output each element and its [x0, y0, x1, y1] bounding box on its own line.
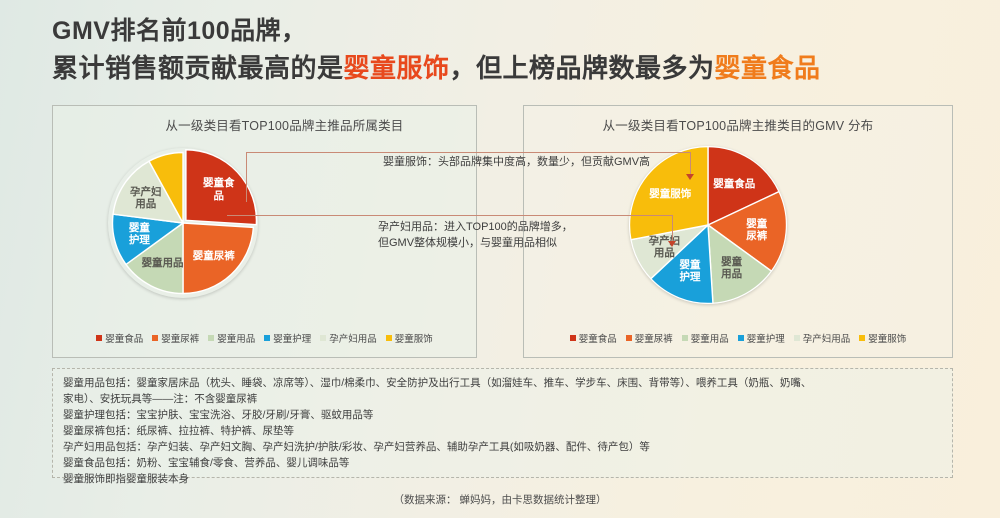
pie-slice-婴童尿裤 — [183, 223, 253, 294]
annotation-maternity: 孕产妇用品：进入TOP100的品牌增多， 但GMV整体规模小，与婴童用品相似 — [378, 220, 573, 252]
arrow-maternity-icon — [668, 241, 676, 247]
legend-label: 婴童食品 — [579, 331, 617, 345]
note-line: 婴童食品包括：奶粉、宝宝辅食/零食、营养品、婴儿调味品等 — [63, 456, 942, 472]
note-line: 家电）、安抚玩具等——注：不含婴童尿裤 — [63, 392, 942, 408]
legend-swatch-icon — [570, 335, 576, 341]
connector-maternity-horizontal — [227, 215, 672, 216]
legend-item-孕产妇用品[interactable]: 孕产妇用品 — [794, 331, 851, 345]
legend-label: 婴童尿裤 — [161, 331, 199, 345]
headline-part-a: 累计销售额贡献最高的是 — [52, 53, 344, 83]
legend-item-孕产妇用品[interactable]: 孕产妇用品 — [320, 331, 377, 345]
headline-line-1: GMV排名前100品牌， — [52, 14, 982, 50]
left-pie-chart: 婴童食品婴童尿裤婴童用品婴童 护理孕产妇 用品 — [108, 148, 258, 298]
legend-label: 孕产妇用品 — [329, 331, 377, 345]
slide-root: GMV排名前100品牌， 累计销售额贡献最高的是婴童服饰，但上榜品牌数最多为婴童… — [0, 0, 1000, 518]
right-pie-graphic — [629, 146, 787, 304]
headline-accent-food: 婴童食品 — [715, 53, 821, 83]
legend-swatch-icon — [738, 335, 744, 341]
legend-swatch-icon — [682, 335, 688, 341]
legend-item-婴童食品[interactable]: 婴童食品 — [96, 331, 143, 345]
connector-apparel-right-vertical — [690, 152, 691, 176]
headline-line-2: 累计销售额贡献最高的是婴童服饰，但上榜品牌数最多为婴童食品 — [52, 50, 982, 87]
legend-label: 孕产妇用品 — [803, 331, 851, 345]
legend-swatch-icon — [152, 335, 158, 341]
headline-part-b: ，但上榜品牌数最多为 — [450, 53, 715, 83]
legend-label: 婴童尿裤 — [635, 331, 673, 345]
legend-item-婴童护理[interactable]: 婴童护理 — [264, 331, 311, 345]
legend-item-婴童食品[interactable]: 婴童食品 — [570, 331, 617, 345]
right-chart-title: 从一级类目看TOP100品牌主推类目的GMV 分布 — [524, 115, 952, 134]
headline-accent-apparel: 婴童服饰 — [344, 53, 450, 83]
legend-label: 婴童护理 — [747, 331, 785, 345]
note-line: 婴童用品包括：婴童家居床品（枕头、睡袋、凉席等）、湿巾/棉柔巾、安全防护及出行工… — [63, 376, 942, 392]
note-line: 婴童尿裤包括：纸尿裤、拉拉裤、特护裤、尿垫等 — [63, 424, 942, 440]
legend-label: 婴童护理 — [273, 331, 311, 345]
legend-label: 婴童用品 — [691, 331, 729, 345]
arrow-apparel-icon — [686, 174, 694, 180]
legend-label: 婴童食品 — [105, 331, 143, 345]
legend-label: 婴童用品 — [217, 331, 255, 345]
legend-swatch-icon — [264, 335, 270, 341]
right-pie-chart: 婴童食品婴童尿裤婴童 用品婴童 护理孕产妇 用品婴童服饰 — [629, 146, 787, 304]
connector-maternity-right-vertical — [672, 215, 673, 243]
legend-swatch-icon — [96, 335, 102, 341]
connector-apparel-left-vertical — [246, 152, 247, 202]
legend-item-婴童用品[interactable]: 婴童用品 — [208, 331, 255, 345]
legend-swatch-icon — [859, 335, 865, 341]
legend-item-婴童服饰[interactable]: 婴童服饰 — [386, 331, 433, 345]
legend-swatch-icon — [794, 335, 800, 341]
legend-swatch-icon — [626, 335, 632, 341]
legend-item-婴童尿裤[interactable]: 婴童尿裤 — [152, 331, 199, 345]
legend-swatch-icon — [208, 335, 214, 341]
headline: GMV排名前100品牌， 累计销售额贡献最高的是婴童服饰，但上榜品牌数最多为婴童… — [52, 14, 982, 86]
source-note: （数据来源： 蝉妈妈，由卡思数据统计整理） — [0, 492, 1000, 507]
connector-apparel-horizontal — [246, 152, 690, 153]
right-legend: 婴童食品婴童尿裤婴童用品婴童护理孕产妇用品婴童服饰 — [524, 331, 952, 345]
legend-label: 婴童服饰 — [395, 331, 433, 345]
panel-gmv-share: 从一级类目看TOP100品牌主推类目的GMV 分布 婴童食品婴童尿裤婴童 用品婴… — [523, 105, 953, 358]
annotation-apparel: 婴童服饰：头部品牌集中度高，数量少，但贡献GMV高 — [383, 155, 650, 171]
legend-item-婴童护理[interactable]: 婴童护理 — [738, 331, 785, 345]
legend-item-婴童用品[interactable]: 婴童用品 — [682, 331, 729, 345]
legend-swatch-icon — [320, 335, 326, 341]
left-pie-graphic — [108, 148, 258, 298]
note-line: 婴童护理包括：宝宝护肤、宝宝洗浴、牙胶/牙刷/牙膏、驱蚊用品等 — [63, 408, 942, 424]
legend-swatch-icon — [386, 335, 392, 341]
left-chart-title: 从一级类目看TOP100品牌主推品所属类目 — [53, 115, 476, 134]
legend-item-婴童尿裤[interactable]: 婴童尿裤 — [626, 331, 673, 345]
legend-label: 婴童服饰 — [868, 331, 906, 345]
left-legend: 婴童食品婴童尿裤婴童用品婴童护理孕产妇用品婴童服饰 — [53, 331, 476, 345]
note-line: 孕产妇用品包括：孕产妇装、孕产妇文胸、孕产妇洗护/护肤/彩妆、孕产妇营养品、辅助… — [63, 440, 942, 456]
category-definitions-box: 婴童用品包括：婴童家居床品（枕头、睡袋、凉席等）、湿巾/棉柔巾、安全防护及出行工… — [52, 368, 953, 478]
note-line: 婴童服饰即指婴童服装本身 — [63, 472, 942, 488]
legend-item-婴童服饰[interactable]: 婴童服饰 — [859, 331, 906, 345]
